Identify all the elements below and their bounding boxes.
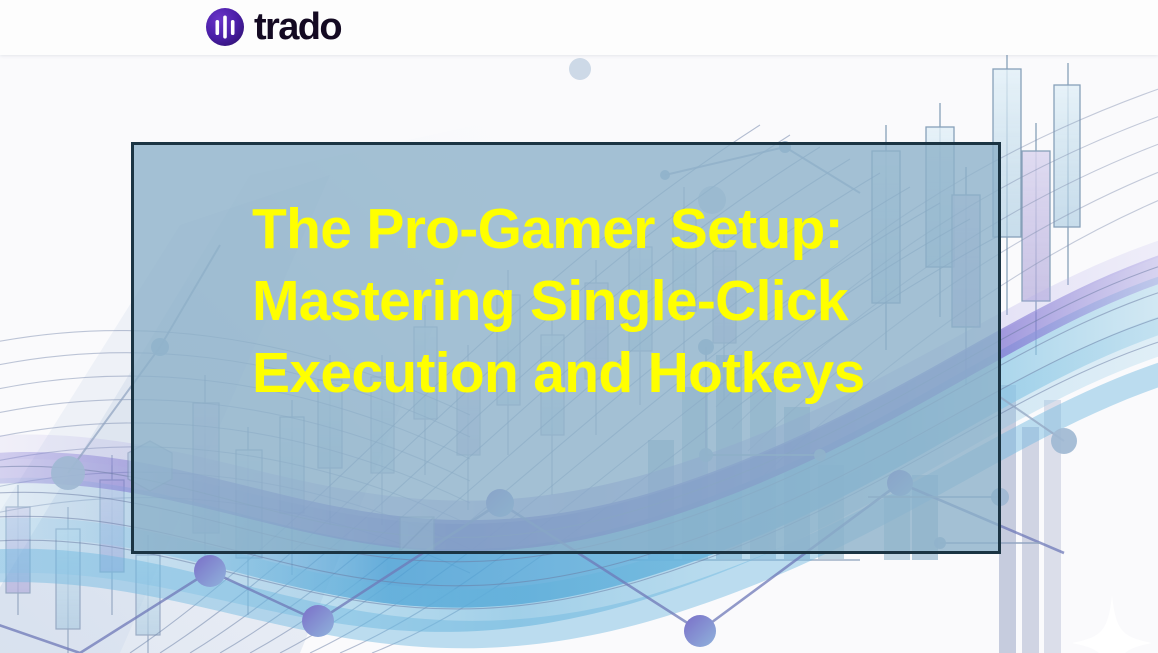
brand-name: trado — [254, 7, 341, 47]
hero-page: The Pro-Gamer Setup: Mastering Single-Cl… — [0, 0, 1158, 653]
page-title: The Pro-Gamer Setup: Mastering Single-Cl… — [252, 193, 1012, 409]
page-title-line-2: Mastering Single-Click — [252, 265, 1012, 337]
page-title-line-1: The Pro-Gamer Setup: — [252, 193, 1012, 265]
hero-title-overlay: The Pro-Gamer Setup: Mastering Single-Cl… — [131, 142, 1001, 554]
page-title-line-3: Execution and Hotkeys — [252, 337, 1012, 409]
trado-bars-circle-icon — [205, 7, 245, 47]
site-header: trado — [0, 0, 1158, 55]
brand-logo-link[interactable]: trado — [205, 4, 341, 50]
sparkle-star-icon — [1072, 595, 1152, 653]
